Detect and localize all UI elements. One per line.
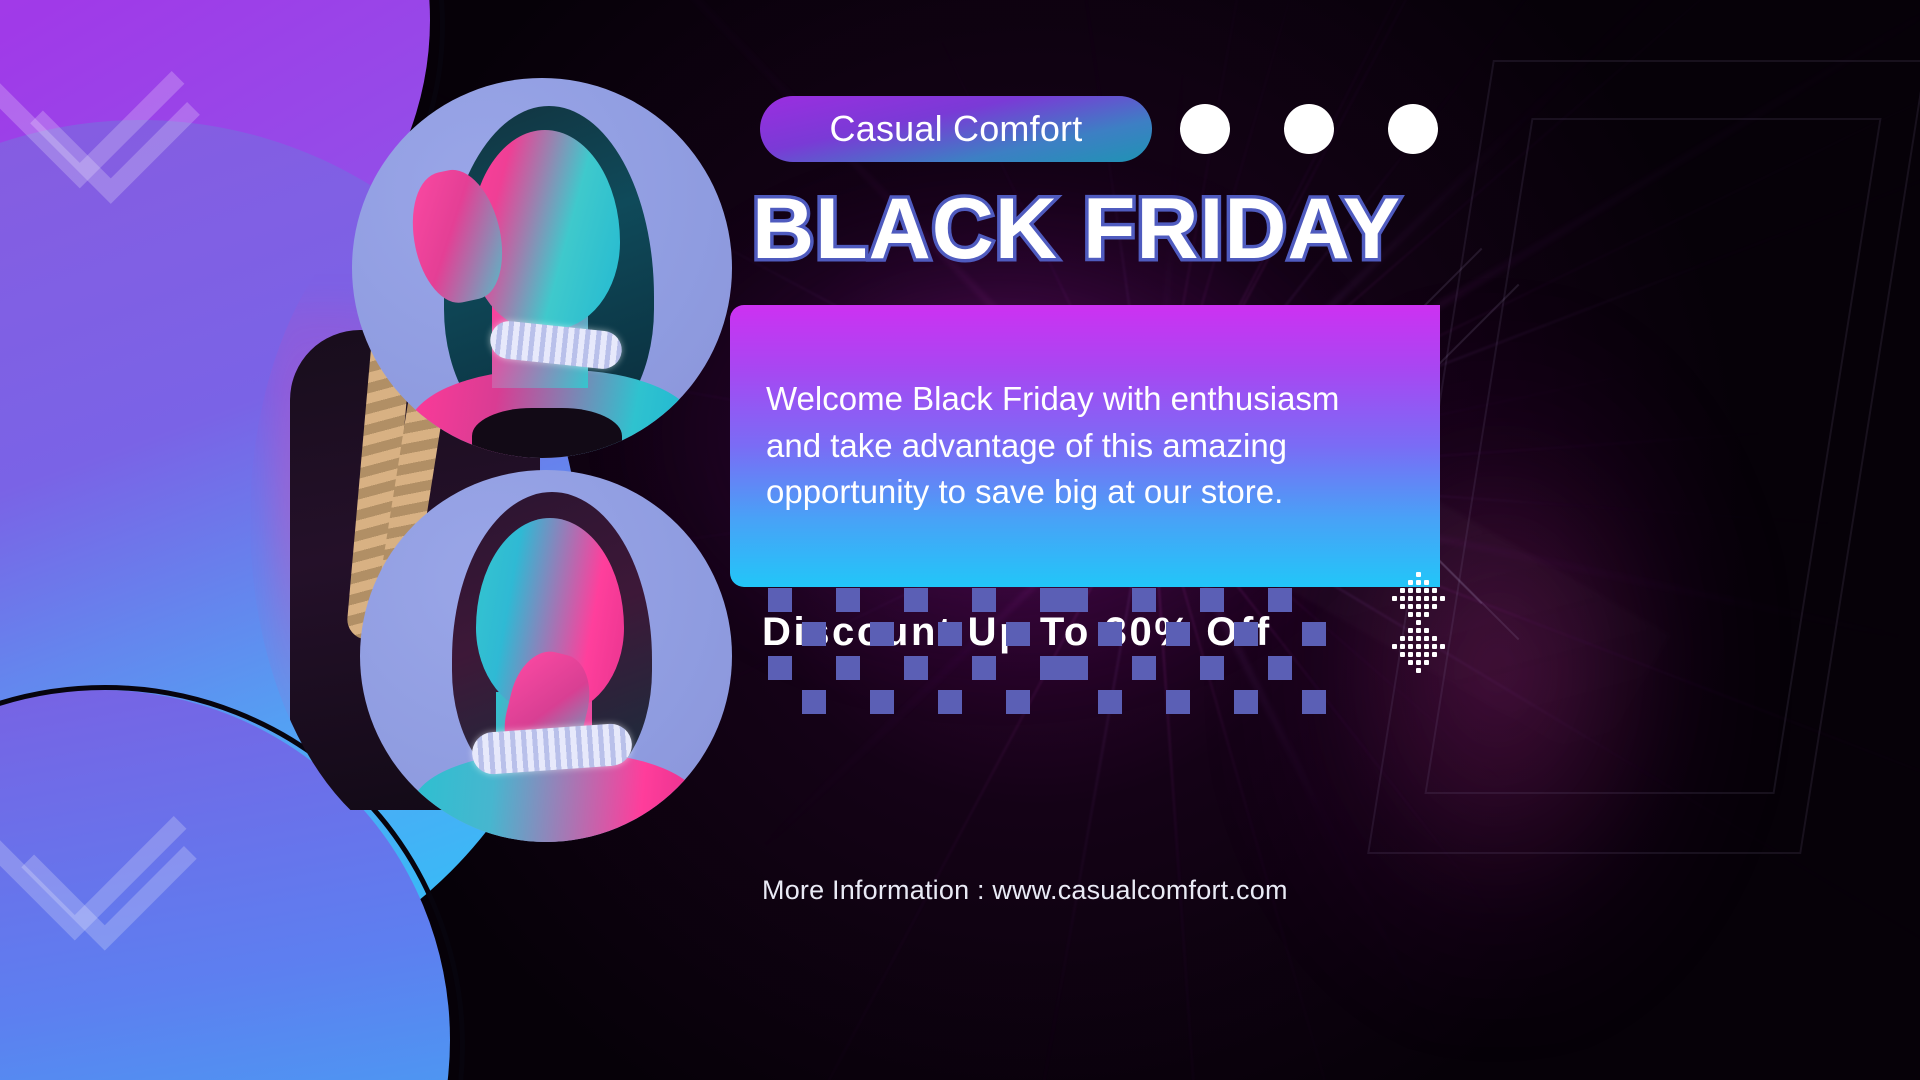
circle-dot-icon <box>1180 104 1230 154</box>
diamond-dot <box>1416 660 1421 665</box>
diamond-dot <box>1432 604 1437 609</box>
checker-square <box>1200 656 1224 680</box>
checker-square <box>802 690 826 714</box>
diamond-dot <box>1440 644 1445 649</box>
diamond-dot <box>1400 604 1405 609</box>
diamond-dot <box>1392 596 1397 601</box>
diamond-dot <box>1424 628 1429 633</box>
diamond-dot <box>1416 580 1421 585</box>
checker-square <box>938 690 962 714</box>
checker-square <box>836 588 860 612</box>
circle-dot-icon <box>1284 104 1334 154</box>
diamond-dot <box>1400 644 1405 649</box>
checker-square <box>972 588 996 612</box>
checker-square <box>1098 690 1122 714</box>
checker-square <box>1132 588 1156 612</box>
checker-square <box>1006 622 1030 646</box>
diamond-dot <box>1408 604 1413 609</box>
brand-badge-label: Casual Comfort <box>830 108 1083 150</box>
diamond-dot <box>1408 628 1413 633</box>
diamond-dot <box>1432 652 1437 657</box>
brand-badge[interactable]: Casual Comfort <box>760 96 1152 162</box>
diamond-dot <box>1408 588 1413 593</box>
checker-square <box>1040 588 1064 612</box>
checker-square <box>870 690 894 714</box>
diamond-dot <box>1408 660 1413 665</box>
page-title: BLACK FRIDAY <box>752 186 1452 272</box>
more-information-text: More Information : www.casualcomfort.com <box>762 875 1288 906</box>
checker-square <box>768 656 792 680</box>
black-friday-banner: Casual Comfort BLACK FRIDAY Welcome Blac… <box>0 0 1920 1080</box>
checker-square <box>1268 588 1292 612</box>
diamond-dot <box>1424 604 1429 609</box>
top-model-garment <box>472 408 622 458</box>
checker-square <box>802 622 826 646</box>
diamond-dot <box>1416 628 1421 633</box>
checker-square <box>904 588 928 612</box>
checker-square <box>870 622 894 646</box>
diamond-dot <box>1400 596 1405 601</box>
diamond-dot <box>1416 612 1421 617</box>
checker-square <box>1166 622 1190 646</box>
diamond-dot <box>1408 612 1413 617</box>
diamond-dot <box>1416 668 1421 673</box>
checker-square <box>1040 656 1064 680</box>
diamond-dot <box>1416 652 1421 657</box>
checker-square <box>1200 588 1224 612</box>
diamond-dot <box>1416 588 1421 593</box>
diamond-dot <box>1408 596 1413 601</box>
diamond-dot <box>1416 636 1421 641</box>
checker-square <box>904 656 928 680</box>
checker-square <box>836 656 860 680</box>
diamond-dot <box>1440 596 1445 601</box>
diamond-dot <box>1432 644 1437 649</box>
diamond-dot <box>1400 588 1405 593</box>
diamond-dot <box>1400 636 1405 641</box>
checker-square <box>768 588 792 612</box>
diamond-dot <box>1424 644 1429 649</box>
checker-square <box>938 622 962 646</box>
diamond-dot <box>1408 644 1413 649</box>
checker-square <box>1302 622 1326 646</box>
diamond-dot <box>1424 660 1429 665</box>
diamond-dot <box>1408 636 1413 641</box>
diamond-dot <box>1424 652 1429 657</box>
diamond-dot <box>1416 596 1421 601</box>
diamond-dot <box>1416 572 1421 577</box>
diamond-ornament-icon <box>1368 572 1432 692</box>
diamond-dot <box>1424 612 1429 617</box>
checker-square <box>1234 622 1258 646</box>
checker-square <box>1064 656 1088 680</box>
checker-square <box>1234 690 1258 714</box>
diamond-dot <box>1416 604 1421 609</box>
diamond-dot <box>1432 588 1437 593</box>
diamond-dot <box>1432 596 1437 601</box>
diamond-dot <box>1408 652 1413 657</box>
diamond-dot <box>1432 636 1437 641</box>
model-portrait-bottom <box>360 470 732 842</box>
checker-square <box>1132 656 1156 680</box>
checker-square <box>1302 690 1326 714</box>
checker-square <box>1268 656 1292 680</box>
checkerboard-pattern-left <box>768 588 1040 693</box>
diamond-dot <box>1416 644 1421 649</box>
diamond-dot <box>1408 580 1413 585</box>
diamond-dot <box>1400 652 1405 657</box>
checker-square <box>1098 622 1122 646</box>
checker-square <box>972 656 996 680</box>
checker-square <box>1006 690 1030 714</box>
circle-dot-icon <box>1388 104 1438 154</box>
diamond-dot <box>1424 588 1429 593</box>
model-portrait-top <box>352 78 732 458</box>
diamond-dot <box>1392 644 1397 649</box>
diamond-dot <box>1424 636 1429 641</box>
checkerboard-pattern-right <box>1064 588 1312 693</box>
checker-square <box>1064 588 1088 612</box>
description-text: Welcome Black Friday with enthusiasm and… <box>766 376 1366 517</box>
description-panel: Welcome Black Friday with enthusiasm and… <box>730 305 1440 587</box>
diamond-dot <box>1416 620 1421 625</box>
checker-square <box>1166 690 1190 714</box>
decorative-dots-group <box>1180 104 1438 154</box>
diamond-dot <box>1424 580 1429 585</box>
diamond-dot <box>1424 596 1429 601</box>
